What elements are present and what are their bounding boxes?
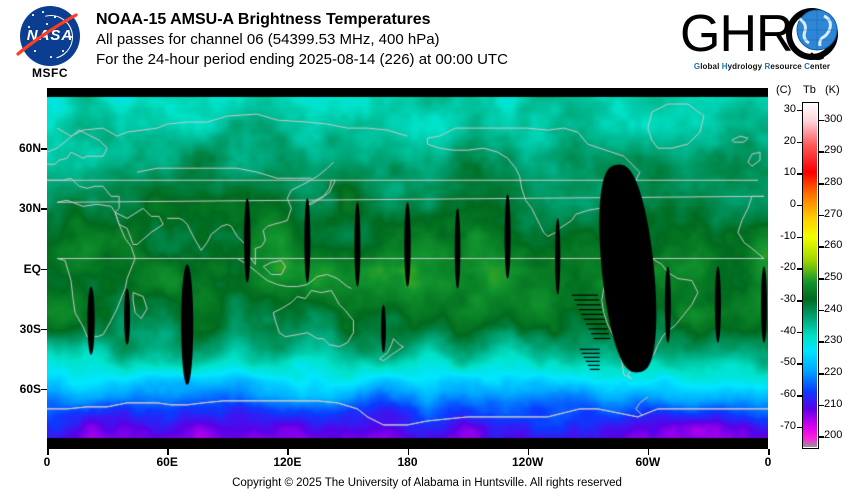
x-axis-tick-mark: [648, 449, 650, 455]
x-axis-tick-label: 60W: [628, 455, 668, 469]
colorbar-tick-c: -10: [772, 230, 796, 242]
map-raster: [47, 88, 768, 449]
colorbar: [802, 102, 819, 449]
colorbar-tick-c: -70: [772, 420, 796, 432]
x-axis-tick-mark: [47, 449, 49, 455]
y-axis-tick-label: 30S: [1, 322, 41, 336]
x-axis-tick-label: 120W: [508, 455, 548, 469]
x-axis-tick-label: 0: [27, 455, 67, 469]
colorbar-tick-mark-right: [818, 436, 824, 438]
colorbar-tick-k: 220: [824, 366, 852, 378]
nasa-center-label: MSFC: [14, 66, 86, 80]
colorbar-unit-celsius: (C): [776, 84, 791, 96]
colorbar-tick-c: -50: [772, 356, 796, 368]
colorbar-tick-mark-right: [818, 278, 824, 280]
colorbar-tick-k: 280: [824, 176, 852, 188]
y-axis-tick-label: 60S: [1, 382, 41, 396]
nasa-swoosh-icon: [12, 12, 82, 60]
colorbar-tick-k: 200: [824, 429, 852, 441]
y-axis-tick-mark: [41, 208, 47, 210]
colorbar-tick-mark-right: [818, 215, 824, 217]
x-axis-tick-mark: [528, 449, 530, 455]
colorbar-tick-c: 20: [772, 135, 796, 147]
y-axis-tick-label: EQ: [1, 262, 41, 276]
colorbar-tick-mark-right: [818, 341, 824, 343]
colorbar-tick-k: 250: [824, 271, 852, 283]
colorbar-tick-k: 210: [824, 398, 852, 410]
colorbar-tick-mark-left: [797, 395, 803, 397]
colorbar-tick-k: 300: [824, 113, 852, 125]
colorbar-tick-k: 230: [824, 334, 852, 346]
colorbar-variable-label: Tb: [803, 84, 816, 96]
x-axis-tick-mark: [167, 449, 169, 455]
colorbar-tick-mark-left: [797, 110, 803, 112]
ghrc-tagline: Global Hydrology Resource Center: [678, 62, 846, 71]
colorbar-unit-kelvin: (K): [825, 84, 840, 96]
colorbar-tick-k: 270: [824, 208, 852, 220]
colorbar-tick-k: 240: [824, 303, 852, 315]
y-axis-tick-mark: [41, 329, 47, 331]
colorbar-tick-mark-right: [818, 310, 824, 312]
header-block: NOAA-15 AMSU-A Brightness Temperatures A…: [96, 10, 508, 70]
colorbar-tick-mark-right: [818, 373, 824, 375]
page-title: NOAA-15 AMSU-A Brightness Temperatures: [96, 10, 508, 30]
colorbar-tick-mark-right: [818, 183, 824, 185]
colorbar-tick-c: -40: [772, 325, 796, 337]
ghrc-letters-icon: GHR: [678, 6, 850, 62]
colorbar-tick-k: 290: [824, 144, 852, 156]
colorbar-tick-mark-left: [797, 268, 803, 270]
colorbar-tick-k: 260: [824, 239, 852, 251]
svg-text:GHR: GHR: [680, 6, 793, 62]
colorbar-tick-mark-left: [797, 363, 803, 365]
nasa-logo: NASA MSFC: [14, 6, 86, 84]
y-axis-tick-mark: [41, 389, 47, 391]
copyright-notice: Copyright © 2025 The University of Alaba…: [0, 477, 854, 489]
header-subtitle-channel: All passes for channel 06 (54399.53 MHz,…: [96, 30, 508, 50]
colorbar-tick-c: -60: [772, 388, 796, 400]
ghrc-globe-icon: [789, 10, 837, 58]
colorbar-tick-mark-right: [818, 246, 824, 248]
header-subtitle-period: For the 24-hour period ending 2025-08-14…: [96, 50, 508, 70]
colorbar-tick-mark-left: [797, 237, 803, 239]
y-axis-tick-mark: [41, 148, 47, 150]
ghrc-logo: GHR Global Hydrology Resource Center: [678, 6, 850, 80]
colorbar-tick-mark-left: [797, 427, 803, 429]
colorbar-tick-c: -20: [772, 261, 796, 273]
x-axis-tick-label: 120E: [267, 455, 307, 469]
y-axis-tick-label: 60N: [1, 141, 41, 155]
brightness-temperature-map: [47, 88, 768, 449]
colorbar-tick-mark-right: [818, 151, 824, 153]
x-axis-tick-label: 0: [748, 455, 788, 469]
colorbar-tick-c: -30: [772, 293, 796, 305]
colorbar-tick-c: 10: [772, 166, 796, 178]
colorbar-tick-c: 0: [772, 198, 796, 210]
colorbar-tick-mark-left: [797, 300, 803, 302]
colorbar-tick-mark-left: [797, 205, 803, 207]
x-axis-tick-label: 180: [388, 455, 428, 469]
colorbar-gradient: [803, 103, 817, 447]
x-axis-tick-mark: [287, 449, 289, 455]
y-axis-tick-mark: [41, 269, 47, 271]
y-axis-tick-label: 30N: [1, 201, 41, 215]
x-axis-tick-mark: [768, 449, 770, 455]
x-axis-tick-label: 60E: [147, 455, 187, 469]
colorbar-tick-mark-left: [797, 173, 803, 175]
colorbar-tick-mark-left: [797, 142, 803, 144]
colorbar-tick-mark-right: [818, 120, 824, 122]
colorbar-tick-c: 30: [772, 103, 796, 115]
x-axis-tick-mark: [408, 449, 410, 455]
colorbar-tick-mark-right: [818, 405, 824, 407]
colorbar-tick-mark-left: [797, 332, 803, 334]
